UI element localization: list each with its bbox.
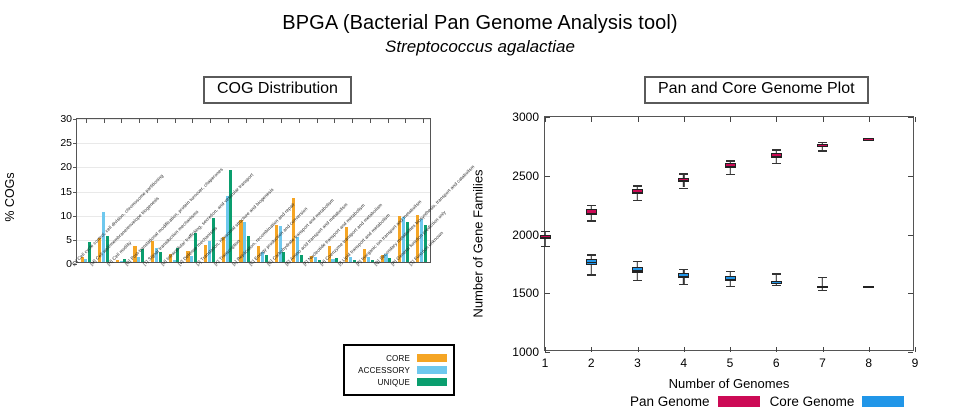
tick-mark	[388, 119, 389, 123]
pan-boxplot-point	[725, 117, 736, 352]
whisker-cap	[679, 269, 688, 270]
cog-legend-item: UNIQUE	[351, 378, 447, 387]
pan-y-tick-label: 2500	[512, 169, 539, 183]
cog-bar-accessory	[84, 259, 87, 262]
box	[863, 286, 874, 289]
pan-legend-swatch	[718, 396, 760, 407]
pan-panel-title: Pan and Core Genome Plot	[644, 76, 869, 104]
tick-mark	[352, 119, 353, 123]
pan-core-genome-chart: Number of Gene Families 1000150020002500…	[480, 108, 950, 378]
pan-boxplot-point	[771, 117, 782, 352]
cog-legend-item: ACCESSORY	[351, 366, 447, 375]
tick-mark	[908, 352, 913, 353]
tick-mark	[139, 119, 140, 123]
cog-legend-swatch	[417, 378, 447, 386]
cog-legend-swatch	[417, 366, 447, 374]
bpga-result-page: BPGA (Bacterial Pan Genome Analysis tool…	[0, 0, 960, 418]
tick-mark	[192, 119, 193, 123]
cog-bar-accessory	[137, 257, 140, 262]
pan-y-axis-label: Number of Gene Families	[471, 169, 486, 317]
cog-legend-swatch	[417, 354, 447, 362]
pan-y-tick-label: 3000	[512, 110, 539, 124]
cog-y-tick-label: 5	[66, 234, 72, 246]
pan-x-tick-label: 9	[912, 356, 919, 370]
cog-legend-item: CORE	[351, 354, 447, 363]
tick-mark	[405, 119, 406, 123]
pan-x-axis-label: Number of Genomes	[544, 376, 914, 391]
pan-legend-item: Pan Genome	[630, 394, 760, 409]
page-title: BPGA (Bacterial Pan Genome Analysis tool…	[0, 12, 960, 35]
tick-mark	[299, 119, 300, 123]
tick-mark	[334, 119, 335, 123]
tick-mark	[263, 119, 264, 123]
species-subtitle: Streptococcus agalactiae	[0, 37, 960, 57]
tick-mark	[915, 347, 916, 352]
pan-y-tick-label: 2000	[512, 228, 539, 242]
whisker-cap	[772, 285, 781, 286]
cog-legend: COREACCESSORYUNIQUE	[343, 344, 455, 396]
whisker-cap	[726, 271, 735, 272]
median-line	[725, 279, 736, 280]
median-line	[817, 286, 828, 287]
cog-panel-title: COG Distribution	[203, 76, 352, 104]
cog-y-axis-label: % COGs	[3, 172, 17, 221]
tick-mark	[317, 119, 318, 123]
whisker-cap	[541, 246, 550, 247]
cog-bar-accessory	[314, 257, 317, 262]
tick-mark	[86, 119, 87, 123]
pan-legend-label: Core Genome	[770, 394, 855, 409]
tick-mark	[908, 293, 913, 294]
pan-boxplot-point	[540, 117, 551, 352]
pan-boxplot-point	[586, 117, 597, 352]
tick-mark	[915, 117, 916, 122]
pan-boxplot-point	[678, 117, 689, 352]
median-line	[540, 237, 551, 238]
cog-legend-label: ACCESSORY	[358, 366, 410, 375]
median-line	[771, 283, 782, 284]
tick-mark	[908, 176, 913, 177]
cog-bar-accessory	[173, 260, 176, 262]
tick-mark	[121, 119, 122, 123]
pan-boxplot-point	[863, 117, 874, 352]
cog-bar-core	[116, 260, 119, 262]
pan-x-tick-label: 7	[819, 356, 826, 370]
pan-boxplot-point	[817, 117, 828, 352]
cog-legend-label: UNIQUE	[378, 378, 410, 387]
tick-mark	[104, 119, 105, 123]
pan-plot-area: 10001500200025003000 123456789	[544, 116, 914, 351]
tick-mark	[246, 119, 247, 123]
cog-y-tick-label: 30	[60, 113, 72, 125]
tick-mark	[545, 352, 550, 353]
cog-y-tick-label: 20	[60, 161, 72, 173]
cog-bar-accessory	[190, 256, 193, 262]
pan-legend-swatch	[862, 396, 904, 407]
pan-boxplot-point	[632, 117, 643, 352]
whisker-cap	[633, 261, 642, 262]
cog-bar-accessory	[331, 259, 334, 262]
cog-bar-accessory	[120, 261, 123, 262]
whisker-cap	[633, 280, 642, 281]
tick-mark	[423, 119, 424, 123]
tick-mark	[175, 119, 176, 123]
pan-x-tick-label: 4	[680, 356, 687, 370]
tick-mark	[210, 119, 211, 123]
tick-mark	[228, 119, 229, 123]
tick-mark	[370, 119, 371, 123]
whisker-cap	[726, 286, 735, 287]
cog-y-tick-label: 25	[60, 137, 72, 149]
median-line	[678, 276, 689, 277]
cog-y-tick-label: 10	[60, 210, 72, 222]
pan-x-tick-label: 3	[634, 356, 641, 370]
pan-x-tick-label: 1	[542, 356, 549, 370]
cog-y-tick-label: 15	[60, 186, 72, 198]
whisker-cap	[679, 284, 688, 285]
tick-mark	[281, 119, 282, 123]
pan-x-tick-label: 6	[773, 356, 780, 370]
tick-mark	[908, 117, 913, 118]
pan-legend: Pan GenomeCore Genome	[630, 392, 940, 410]
pan-legend-item: Core Genome	[770, 394, 905, 409]
pan-y-tick-label: 1000	[512, 345, 539, 359]
cog-legend-label: CORE	[386, 354, 410, 363]
tick-mark	[157, 119, 158, 123]
whisker-cap	[772, 273, 781, 274]
tick-mark	[908, 235, 913, 236]
pan-legend-label: Pan Genome	[630, 394, 710, 409]
whisker-cap	[587, 274, 596, 275]
pan-x-tick-label: 2	[588, 356, 595, 370]
whisker-cap	[818, 277, 827, 278]
pan-y-tick-label: 1500	[512, 286, 539, 300]
whisker-cap	[587, 254, 596, 255]
whisker-cap	[541, 231, 550, 232]
pan-x-tick-label: 8	[865, 356, 872, 370]
median-line	[586, 262, 597, 263]
pan-x-tick-label: 5	[727, 356, 734, 370]
median-line	[632, 270, 643, 271]
whisker-cap	[818, 290, 827, 291]
